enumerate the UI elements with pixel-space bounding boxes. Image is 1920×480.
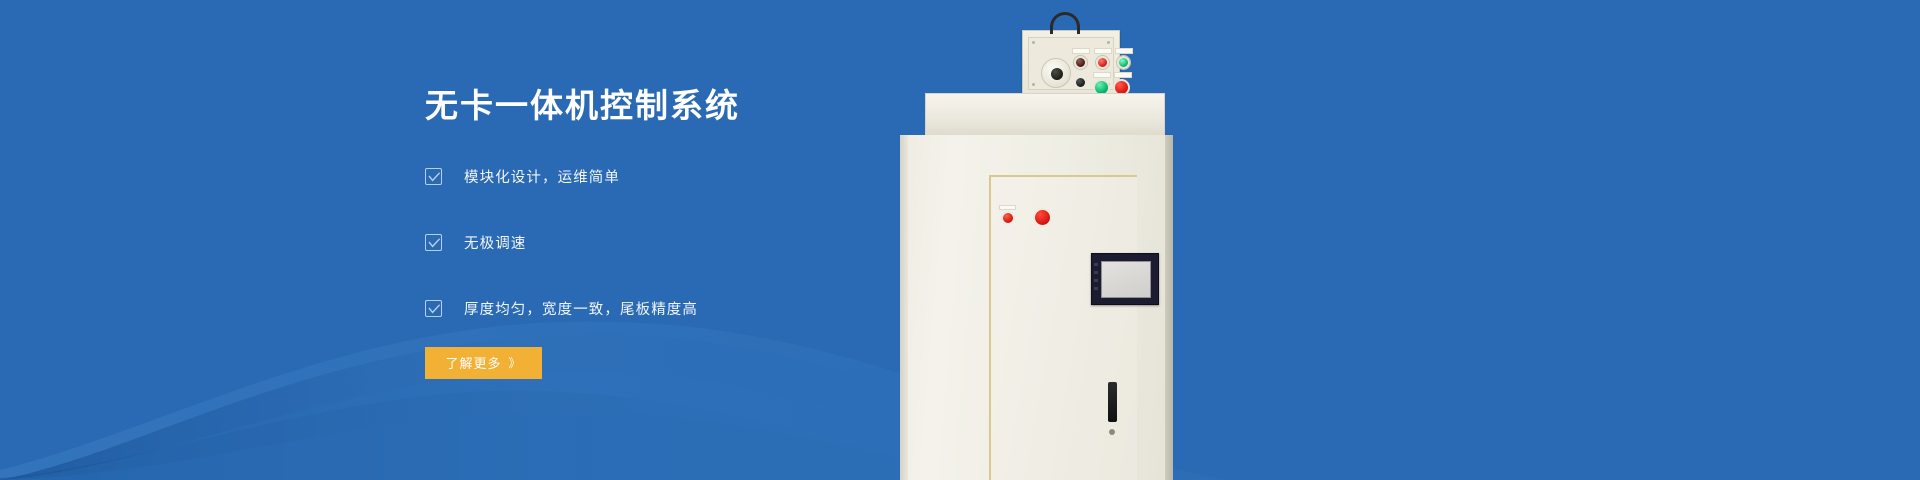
label-tag xyxy=(1114,72,1132,78)
label-tag xyxy=(1115,48,1133,54)
lamp-indicator-3 xyxy=(1117,56,1130,69)
cabinet-right-edge xyxy=(1165,135,1173,480)
feature-label: 模块化设计，运维简单 xyxy=(464,166,620,187)
hero-copy-block: 无卡一体机控制系统 模块化设计，运维简单 无极调速 厚度均匀， xyxy=(425,86,1045,379)
hmi-key-icon[interactable] xyxy=(1094,279,1098,282)
screw-icon xyxy=(1107,41,1110,44)
label-tag xyxy=(1093,72,1111,78)
list-item: 模块化设计，运维简单 xyxy=(425,160,1045,193)
hero-banner: 无卡一体机控制系统 模块化设计，运维简单 无极调速 厚度均匀， xyxy=(0,0,1920,480)
learn-more-button[interactable]: 了解更多 》 xyxy=(425,347,542,379)
checkbox-checked-icon xyxy=(425,300,442,317)
hmi-touchscreen[interactable] xyxy=(1091,253,1159,305)
hmi-key-icon[interactable] xyxy=(1094,287,1098,290)
rotary-selector-knob[interactable] xyxy=(1041,58,1071,88)
hmi-key-icon[interactable] xyxy=(1094,271,1098,274)
hmi-key-icon[interactable] xyxy=(1094,263,1098,266)
feature-list: 模块化设计，运维简单 无极调速 厚度均匀，宽度一致，尾板精度高 xyxy=(425,160,1045,325)
spacer xyxy=(425,259,1045,292)
learn-more-label: 了解更多 xyxy=(445,353,501,372)
feature-label: 无极调速 xyxy=(464,232,526,253)
list-item: 无极调速 xyxy=(425,226,1045,259)
checkbox-checked-icon xyxy=(425,168,442,185)
label-tag xyxy=(1072,48,1090,54)
label-tag xyxy=(1094,48,1112,54)
hmi-screen-surface[interactable] xyxy=(1101,261,1151,298)
small-black-knob[interactable] xyxy=(1076,78,1085,87)
chevron-right-double-icon: 》 xyxy=(509,354,522,371)
page-title: 无卡一体机控制系统 xyxy=(425,86,1045,126)
screw-icon xyxy=(1032,41,1035,44)
door-lock-handle[interactable] xyxy=(1108,382,1117,422)
lamp-indicator-1 xyxy=(1074,56,1087,69)
door-lock-screw-icon xyxy=(1109,429,1115,435)
power-cable-icon xyxy=(1050,12,1080,34)
lamp-indicator-2 xyxy=(1096,56,1109,69)
spacer xyxy=(425,193,1045,226)
feature-label: 厚度均匀，宽度一致，尾板精度高 xyxy=(464,298,698,319)
list-item: 厚度均匀，宽度一致，尾板精度高 xyxy=(425,292,1045,325)
checkbox-checked-icon xyxy=(425,234,442,251)
control-panel-faceplate xyxy=(1028,37,1114,90)
